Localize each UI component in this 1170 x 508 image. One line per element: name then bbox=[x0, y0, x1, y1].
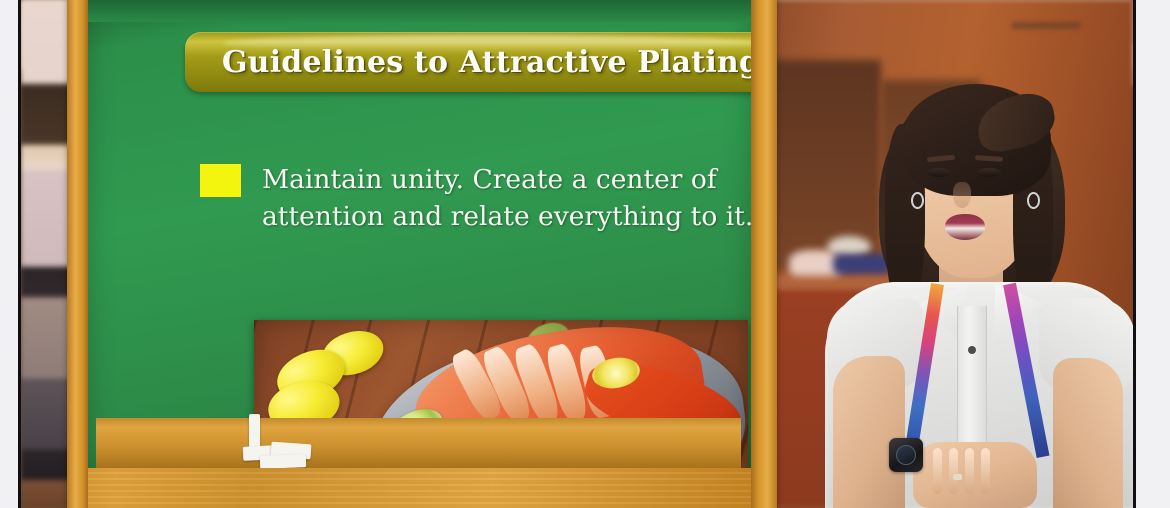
hoop-earring-right bbox=[1027, 192, 1040, 209]
presenter-eye-left bbox=[927, 168, 951, 177]
presenter-hands bbox=[913, 442, 1037, 508]
background-smudge bbox=[1011, 22, 1081, 29]
letterbox-right bbox=[1136, 0, 1170, 508]
slide-bullet-text: Maintain unity. Create a center of atten… bbox=[262, 162, 751, 235]
finger-3 bbox=[965, 448, 974, 494]
slide-title: Guidelines to Attractive Plating bbox=[222, 45, 751, 80]
finger-1 bbox=[933, 448, 942, 494]
presenter-nose bbox=[953, 182, 971, 208]
chalk-ledge bbox=[96, 418, 741, 468]
chalkboard-surface: Guidelines to Attractive Plating Maintai… bbox=[88, 0, 751, 468]
board-frame-right-rail bbox=[751, 0, 777, 508]
chalk-piece-1 bbox=[249, 414, 260, 450]
wristwatch-face bbox=[896, 445, 916, 465]
hoop-earring-left bbox=[911, 192, 924, 209]
presenter-arm-left bbox=[833, 356, 905, 508]
video-edge-right bbox=[1133, 0, 1136, 508]
presenter-eye-right bbox=[977, 168, 1001, 177]
presenter-mouth bbox=[945, 214, 985, 240]
video-player-surface[interactable]: Guidelines to Attractive Plating Maintai… bbox=[21, 0, 1133, 508]
slide-bullet-item: Maintain unity. Create a center of atten… bbox=[200, 162, 751, 235]
letterbox-left bbox=[0, 0, 18, 508]
presenter-arm-right bbox=[1053, 358, 1123, 508]
presenter-on-camera bbox=[827, 70, 1133, 508]
presenter-blouse-button bbox=[968, 346, 976, 354]
slide-title-banner: Guidelines to Attractive Plating bbox=[185, 32, 751, 92]
board-top-shadow bbox=[88, 0, 751, 22]
finger-4 bbox=[981, 448, 990, 494]
wristwatch bbox=[889, 438, 923, 472]
yellow-square-bullet-icon bbox=[200, 164, 241, 197]
chalk-piece-4 bbox=[260, 454, 306, 468]
chalkboard-assembly: Guidelines to Attractive Plating Maintai… bbox=[67, 0, 777, 508]
finger-2 bbox=[949, 448, 958, 494]
board-frame-left-rail bbox=[67, 0, 88, 508]
screenshot-root: Guidelines to Attractive Plating Maintai… bbox=[0, 0, 1170, 508]
finger-ring bbox=[953, 474, 962, 480]
